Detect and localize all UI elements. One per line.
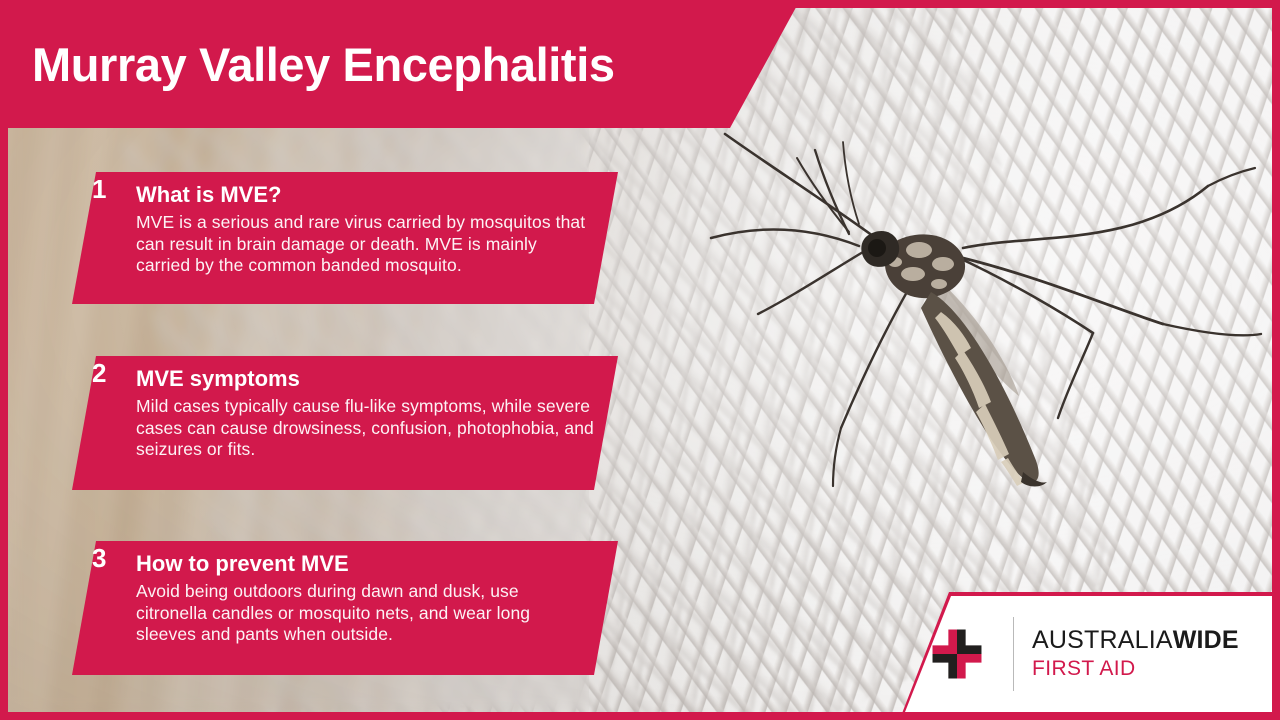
logo-word-australia: AUSTRALIA — [1032, 626, 1173, 654]
info-card-3: 3 How to prevent MVE Avoid being outdoor… — [72, 541, 618, 675]
card-1-number: 1 — [92, 176, 106, 202]
card-2-body: MVE symptoms Mild cases typically cause … — [136, 366, 594, 460]
card-3-body: How to prevent MVE Avoid being outdoors … — [136, 551, 594, 645]
card-2-number: 2 — [92, 360, 106, 386]
card-1-body: What is MVE? MVE is a serious and rare v… — [136, 182, 594, 276]
logo-wordmark: AUSTRALIAWIDE FIRST AID — [1032, 627, 1239, 680]
card-1-heading: What is MVE? — [136, 182, 594, 207]
card-2-text: Mild cases typically cause flu-like symp… — [136, 396, 594, 460]
logo-panel: AUSTRALIAWIDE FIRST AID — [905, 596, 1272, 712]
card-2-heading: MVE symptoms — [136, 366, 594, 391]
logo-divider — [1013, 617, 1014, 691]
card-3-text: Avoid being outdoors during dawn and dus… — [136, 581, 594, 645]
card-3-number: 3 — [92, 545, 106, 571]
card-3-heading: How to prevent MVE — [136, 551, 594, 576]
card-1-text: MVE is a serious and rare virus carried … — [136, 212, 594, 276]
page-title: Murray Valley Encephalitis — [32, 41, 615, 88]
info-card-1: 1 What is MVE? MVE is a serious and rare… — [72, 172, 618, 304]
info-card-2: 2 MVE symptoms Mild cases typically caus… — [72, 356, 618, 490]
logo-word-wide: WIDE — [1173, 626, 1239, 654]
logo-inner: AUSTRALIAWIDE FIRST AID — [905, 596, 1272, 712]
logo-line-1: AUSTRALIAWIDE — [1032, 627, 1239, 653]
infographic-canvas: Murray Valley Encephalitis 1 What is MVE… — [0, 0, 1280, 720]
logo-line-2: FIRST AID — [1032, 657, 1239, 681]
title-banner: Murray Valley Encephalitis — [0, 0, 800, 128]
